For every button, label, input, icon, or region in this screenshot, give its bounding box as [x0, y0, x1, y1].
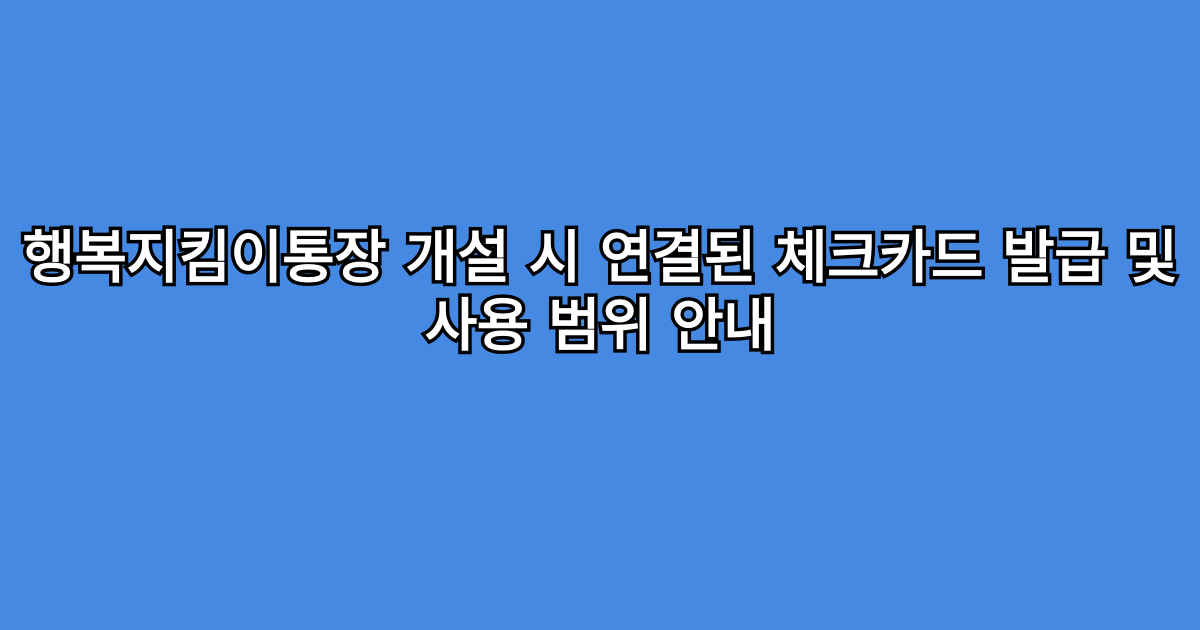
- page-title: 행복지킴이통장 개설 시 연결된 체크카드 발급 및 사용 범위 안내: [65, 224, 1135, 406]
- og-card: 행복지킴이통장 개설 시 연결된 체크카드 발급 및 사용 범위 안내: [0, 0, 1200, 630]
- page-title-line-2: 사용 범위 안내: [425, 292, 775, 360]
- page-title-line-1: 행복지킴이통장 개설 시 연결된 체크카드 발급 및: [23, 224, 1178, 292]
